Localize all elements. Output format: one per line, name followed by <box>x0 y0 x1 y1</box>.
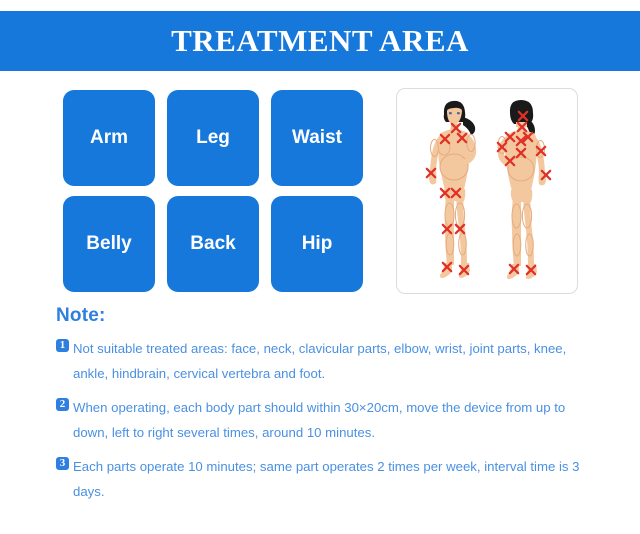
area-button-back[interactable]: Back <box>167 196 259 292</box>
note-list-item: 3 Each parts operate 10 minutes; same pa… <box>56 454 616 504</box>
area-button-label: Arm <box>90 127 128 149</box>
note-number-badge: 3 <box>56 457 69 470</box>
figure-back <box>498 100 550 279</box>
area-button-label: Hip <box>302 233 333 255</box>
area-button-label: Waist <box>292 127 342 149</box>
body-figures-illustration <box>397 89 577 293</box>
body-figures-panel <box>396 88 578 294</box>
note-item-text: Each parts operate 10 minutes; same part… <box>73 454 603 504</box>
header-banner: TREATMENT AREA <box>0 11 640 71</box>
note-list-item: 1 Not suitable treated areas: face, neck… <box>56 336 616 386</box>
page-title: TREATMENT AREA <box>171 23 469 59</box>
note-list: 1 Not suitable treated areas: face, neck… <box>56 336 616 504</box>
note-list-item: 2 When operating, each body part should … <box>56 395 616 445</box>
treatment-area-buttons: Arm Leg Waist Belly Back Hip <box>63 90 359 292</box>
area-button-arm[interactable]: Arm <box>63 90 155 186</box>
figure-front <box>427 101 476 278</box>
area-button-waist[interactable]: Waist <box>271 90 363 186</box>
note-heading: Note: <box>56 305 616 327</box>
area-button-label: Leg <box>196 127 230 149</box>
note-number-badge: 2 <box>56 398 69 411</box>
area-button-label: Back <box>190 233 235 255</box>
note-item-text: When operating, each body part should wi… <box>73 395 603 445</box>
area-button-belly[interactable]: Belly <box>63 196 155 292</box>
note-item-text: Not suitable treated areas: face, neck, … <box>73 336 603 386</box>
treatment-area-page: TREATMENT AREA Arm Leg Waist Belly Back … <box>0 0 640 534</box>
area-button-label: Belly <box>86 233 131 255</box>
area-button-leg[interactable]: Leg <box>167 90 259 186</box>
note-section: Note: 1 Not suitable treated areas: face… <box>56 305 616 513</box>
area-button-hip[interactable]: Hip <box>271 196 363 292</box>
note-number-badge: 1 <box>56 339 69 352</box>
